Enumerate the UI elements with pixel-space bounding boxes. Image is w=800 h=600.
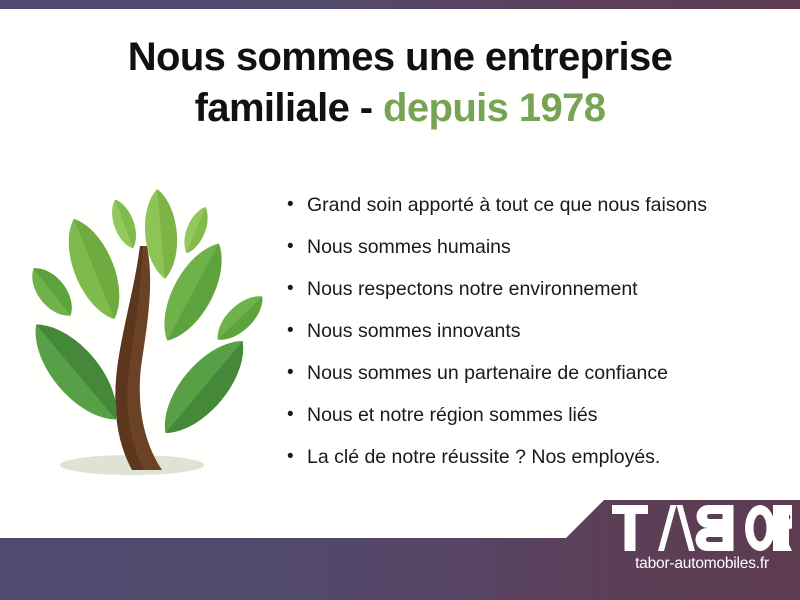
list-item-label: Nous et notre région sommes liés <box>307 402 597 428</box>
leaf-lower-right <box>149 327 259 447</box>
title-line-1: Nous sommes une entreprise <box>0 34 800 81</box>
list-item-label: Nous sommes un partenaire de confiance <box>307 360 668 386</box>
page-title: Nous sommes une entreprise familiale - d… <box>0 34 800 132</box>
leaf-top-small-left <box>106 196 142 252</box>
list-item-label: La clé de notre réussite ? Nos employés. <box>307 444 660 470</box>
list-item: • Nous sommes humains <box>287 234 757 276</box>
leaf-upper-far-left <box>23 260 81 324</box>
leaf-lower-left <box>19 310 133 434</box>
leaf-mid-far-right <box>209 288 270 348</box>
brand-tagline: tabor-automobiles.fr <box>612 555 792 573</box>
bullet-marker-icon: • <box>287 444 307 470</box>
list-item-label: Nous sommes innovants <box>307 318 521 344</box>
bullet-marker-icon: • <box>287 234 307 260</box>
list-item-label: Grand soin apporté à tout ce que nous fa… <box>307 192 707 218</box>
list-item: • Nous sommes innovants <box>287 318 757 360</box>
brand-wordmark <box>612 505 792 553</box>
bullet-marker-icon: • <box>287 276 307 302</box>
title-line-2: familiale - depuis 1978 <box>0 85 800 132</box>
tree-illustration <box>14 182 276 482</box>
list-item-label: Nous sommes humains <box>307 234 511 260</box>
brand-logo: tabor-automobiles.fr <box>612 505 792 585</box>
slide-canvas: Nous sommes une entreprise familiale - d… <box>0 0 800 600</box>
top-accent-bar <box>0 0 800 9</box>
bullet-marker-icon: • <box>287 318 307 344</box>
title-line-2-accent: depuis 1978 <box>383 86 605 130</box>
bullet-marker-icon: • <box>287 360 307 386</box>
list-item: • Nous respectons notre environnement <box>287 276 757 318</box>
list-item: • Nous et notre région sommes liés <box>287 402 757 444</box>
values-bullet-list: • Grand soin apporté à tout ce que nous … <box>287 192 757 486</box>
list-item: • Grand soin apporté à tout ce que nous … <box>287 192 757 234</box>
bullet-marker-icon: • <box>287 192 307 218</box>
bullet-marker-icon: • <box>287 402 307 428</box>
title-line-2-plain: familiale - <box>195 86 383 130</box>
list-item: • Nous sommes un partenaire de confiance <box>287 360 757 402</box>
list-item-label: Nous respectons notre environnement <box>307 276 638 302</box>
list-item: • La clé de notre réussite ? Nos employé… <box>287 444 757 486</box>
